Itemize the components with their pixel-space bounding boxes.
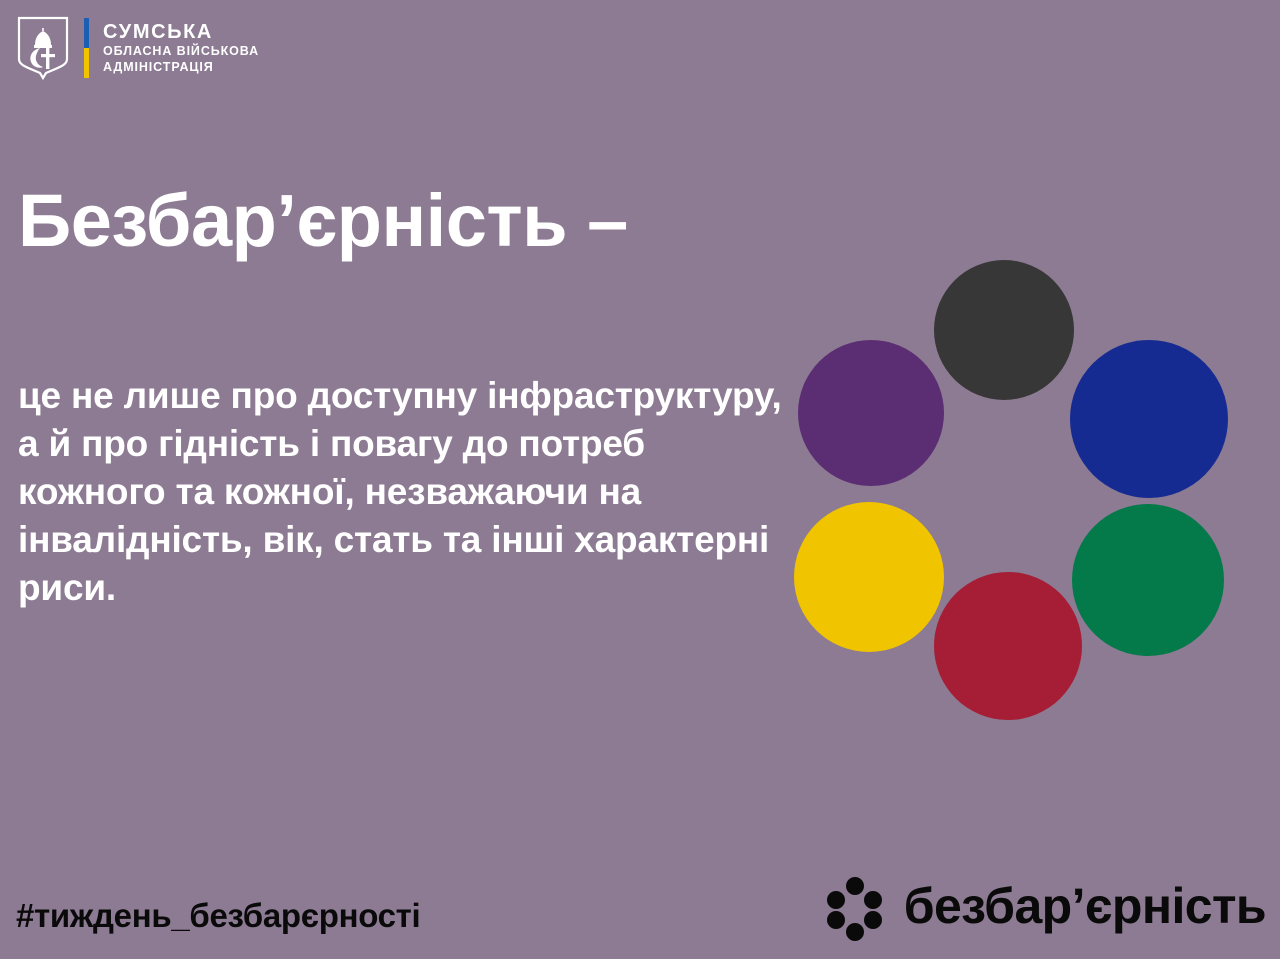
- ring-dot-lower-right: [864, 911, 882, 929]
- page-title: Безбар’єрність –: [18, 183, 778, 258]
- ring-dot-upper-right: [864, 891, 882, 909]
- org-name-line-2: ОБЛАСНА ВІЙСЬКОВА: [103, 43, 259, 59]
- ukraine-flag-accent-bar: [84, 18, 89, 78]
- ring-dot-lower-left: [827, 911, 845, 929]
- body-paragraph: це не лише про доступну інфраструктуру, …: [18, 372, 786, 612]
- green-circle: [1072, 504, 1224, 656]
- purple-circle: [798, 340, 944, 486]
- ring-dot-bottom: [846, 923, 864, 941]
- six-circle-inclusion-emblem: [782, 252, 1242, 722]
- ring-dot-top: [846, 877, 864, 895]
- ring-dot-upper-left: [827, 891, 845, 909]
- yellow-circle: [794, 502, 944, 652]
- blue-circle: [1070, 340, 1228, 498]
- sumy-oblast-coat-of-arms-shield-icon: [16, 15, 70, 81]
- six-dot-ring-icon: [824, 877, 886, 935]
- organization-logo-lockup: СУМСЬКА ОБЛАСНА ВІЙСЬКОВА АДМІНІСТРАЦІЯ: [16, 12, 259, 84]
- brand-wordmark: безбар’єрність: [904, 881, 1266, 931]
- org-name-line-3: АДМІНІСТРАЦІЯ: [103, 59, 259, 75]
- dark-gray-circle: [934, 260, 1074, 400]
- organization-name: СУМСЬКА ОБЛАСНА ВІЙСЬКОВА АДМІНІСТРАЦІЯ: [103, 22, 259, 75]
- bezbariernist-brand-lockup: безбар’єрність: [824, 877, 1266, 935]
- org-name-line-1: СУМСЬКА: [103, 22, 259, 43]
- campaign-hashtag: #тиждень_безбарєрності: [16, 899, 420, 932]
- red-circle: [934, 572, 1082, 720]
- poster-canvas: СУМСЬКА ОБЛАСНА ВІЙСЬКОВА АДМІНІСТРАЦІЯ …: [0, 0, 1280, 959]
